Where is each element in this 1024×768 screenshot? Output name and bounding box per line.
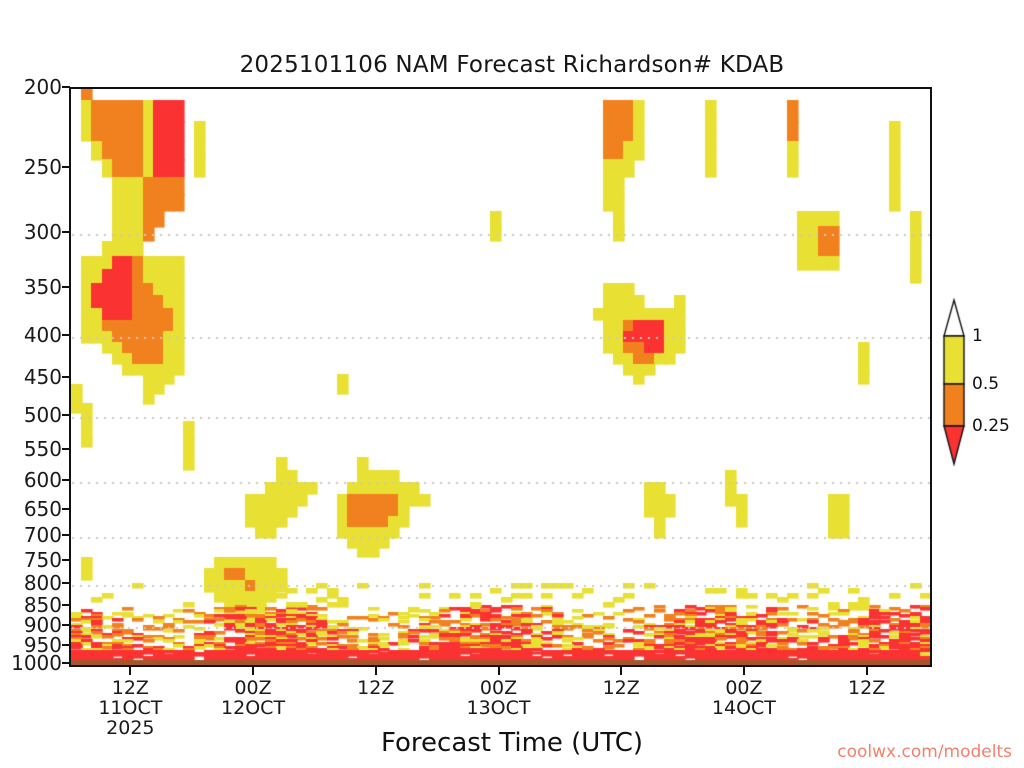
x-tick-mark [375, 667, 377, 675]
x-tick-label-time: 00Z [725, 677, 762, 699]
x-tick-label-date: 11OCT [70, 698, 190, 718]
x-tick-mark [866, 667, 868, 675]
x-tick-label-time: 00Z [234, 677, 271, 699]
x-tick-label: 00Z13OCT [439, 678, 559, 718]
legend-label: 0.5 [972, 376, 999, 393]
watermark: coolwx.com/modelts [837, 742, 1012, 762]
x-tick-label: 00Z14OCT [684, 678, 804, 718]
x-tick-mark [743, 667, 745, 675]
x-tick-mark [620, 667, 622, 675]
color-legend: 10.50.25 [938, 290, 1024, 470]
x-tick-label: 00Z12OCT [193, 678, 313, 718]
x-tick-label-date: 13OCT [439, 698, 559, 718]
x-tick-label-time: 00Z [480, 677, 517, 699]
x-axis: 12Z11OCT202500Z12OCT12Z00Z13OCT12Z00Z14O… [0, 0, 1024, 768]
x-tick-label: 12Z [561, 678, 681, 698]
legend-label: 1 [972, 328, 983, 345]
x-tick-label-time: 12Z [357, 677, 394, 699]
x-tick-label: 12Z [807, 678, 927, 698]
legend-colorbar [938, 290, 972, 470]
x-tick-label-date: 12OCT [193, 698, 313, 718]
x-tick-mark [498, 667, 500, 675]
x-tick-mark [252, 667, 254, 675]
x-tick-mark [129, 667, 131, 675]
x-tick-label: 12Z [316, 678, 436, 698]
x-tick-label-date: 14OCT [684, 698, 804, 718]
legend-label: 0.25 [972, 418, 1010, 435]
x-tick-label-time: 12Z [603, 677, 640, 699]
x-tick-label-time: 12Z [112, 677, 149, 699]
x-tick-label-time: 12Z [848, 677, 885, 699]
chart-canvas: 2025101106 NAM Forecast Richardson# KDAB… [0, 0, 1024, 768]
